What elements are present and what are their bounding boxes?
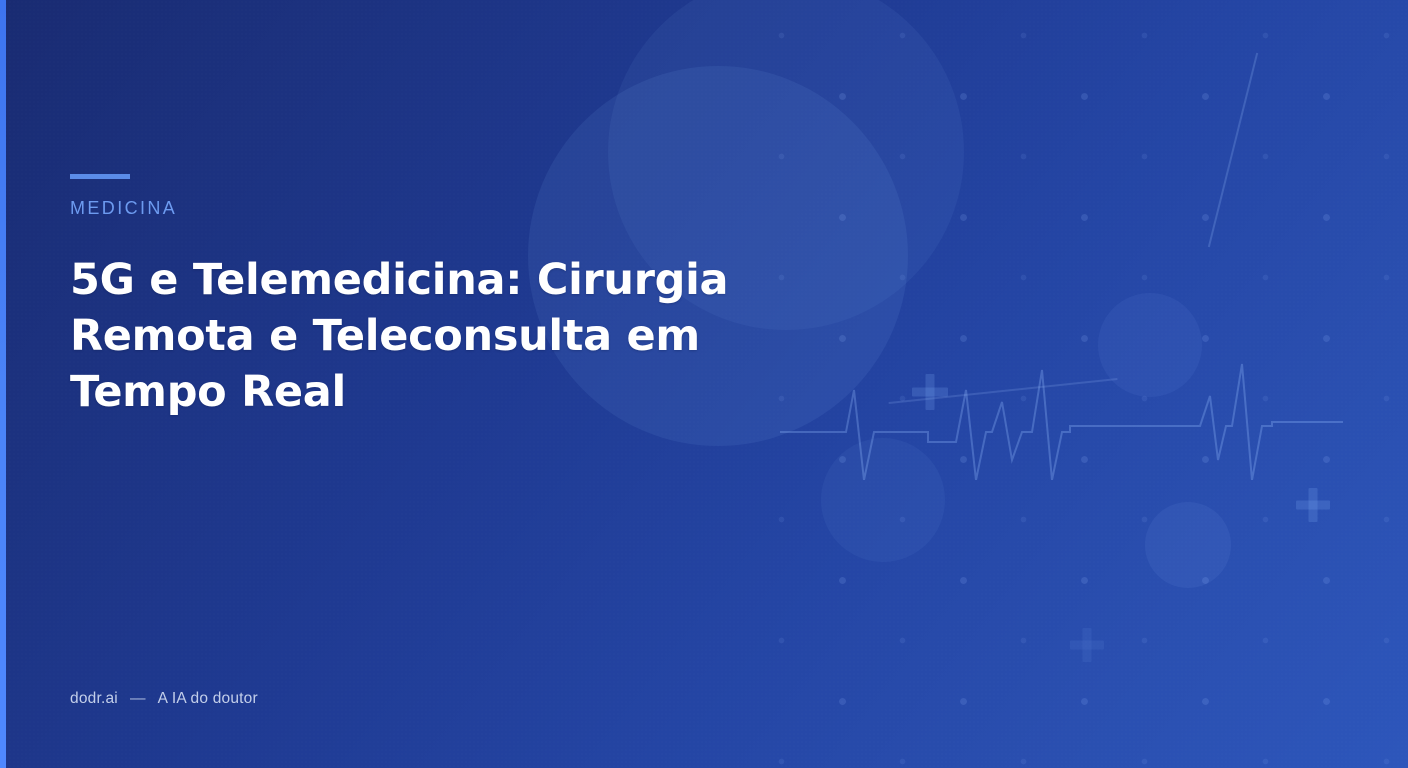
- heartbeat-line-icon: [780, 330, 1360, 480]
- category-kicker: MEDICINA: [70, 198, 177, 219]
- cover-content: MEDICINA 5G e Telemedicina: Cirurgia Rem…: [70, 0, 860, 768]
- article-cover-card: MEDICINA 5G e Telemedicina: Cirurgia Rem…: [0, 0, 1408, 768]
- brand-tagline: A IA do doutor: [158, 690, 258, 708]
- left-edge-accent-strip: [0, 0, 6, 768]
- medical-plus-icon: [1070, 628, 1104, 662]
- brand-name: dodr.ai: [70, 690, 118, 708]
- page-title: 5G e Telemedicina: Cirurgia Remota e Tel…: [70, 252, 810, 420]
- brand-separator: —: [130, 690, 146, 708]
- medical-plus-icon: [1296, 488, 1330, 522]
- kicker-rule: [70, 174, 130, 179]
- brand-footer: dodr.ai — A IA do doutor: [70, 690, 258, 708]
